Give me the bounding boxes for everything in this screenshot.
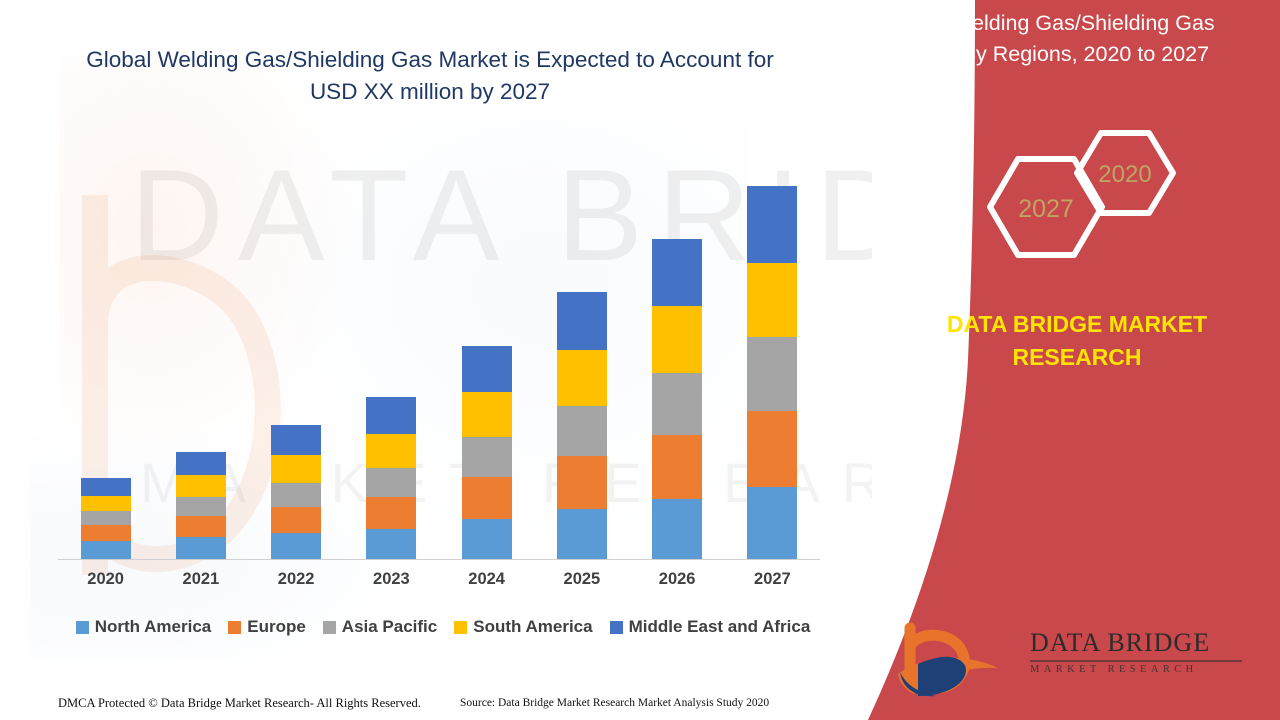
bar-segment [366,434,416,468]
stacked-bar [366,397,416,559]
bar-column [725,160,820,559]
bar-segment [81,511,131,525]
bar-segment [81,496,131,511]
bar-column [58,160,153,559]
dmca-notice: DMCA Protected © Data Bridge Market Rese… [58,696,421,711]
bar-segment [747,337,797,412]
bar-column [630,160,725,559]
bar-segment [652,499,702,559]
bar-segment [652,435,702,499]
stacked-bar [462,346,512,559]
stacked-bar [747,186,797,559]
bar-segment [176,452,226,475]
x-axis-labels: 20202021202220232024202520262027 [58,570,820,589]
bar-segment [366,497,416,529]
bar-segment [176,537,226,559]
bar-segment [271,425,321,455]
bar-segment [557,509,607,559]
bar-segment [176,475,226,497]
logo-text-block: DATA BRIDGE MARKET RESEARCH [1030,630,1242,675]
x-axis-label: 2022 [249,570,344,589]
bar-segment [462,346,512,393]
legend-label: South America [473,617,592,637]
bar-segment [176,516,226,537]
bar-segment [747,186,797,263]
stacked-bar [176,452,226,559]
legend-item[interactable]: Middle East and Africa [610,617,811,637]
bar-segment [81,478,131,496]
bar-segment [462,392,512,437]
legend-label: North America [95,617,212,637]
legend-label: Asia Pacific [342,617,437,637]
stacked-bar-chart [58,160,820,559]
legend-swatch-icon [610,621,623,634]
bar-column [249,160,344,559]
x-axis-label: 2024 [439,570,534,589]
x-axis-label: 2025 [534,570,629,589]
bar-segment [271,455,321,483]
stacked-bar [557,292,607,559]
data-bridge-logo: DATA BRIDGE MARKET RESEARCH [892,622,1262,702]
panel-content: Global Welding Gas/Shielding Gas Market,… [872,0,1280,720]
logo-divider [1030,660,1242,662]
legend-item[interactable]: Europe [228,617,306,637]
legend-swatch-icon [454,621,467,634]
bar-column [344,160,439,559]
bar-segment [652,373,702,435]
bar-segment [81,541,131,559]
bar-segment [747,411,797,487]
x-axis-label: 2027 [725,570,820,589]
stacked-bar [81,478,131,559]
bar-segment [176,497,226,516]
legend-item[interactable]: North America [76,617,212,637]
x-axis-line [58,559,820,560]
bar-column [153,160,248,559]
x-axis-label: 2021 [153,570,248,589]
hexagon-2027-label: 2027 [1018,195,1074,223]
bar-segment [652,306,702,374]
bar-segment [462,477,512,519]
bar-segment [747,487,797,559]
infographic-canvas: DATA BRIDGE MARKET RESEARCH Global Weldi… [0,0,1280,720]
x-axis-label: 2026 [630,570,725,589]
bar-column [534,160,629,559]
legend-swatch-icon [323,621,336,634]
bar-segment [557,406,607,456]
bar-segment [366,468,416,497]
legend-label: Middle East and Africa [629,617,811,637]
bar-segment [462,519,512,559]
stacked-bar [652,239,702,559]
bar-segment [557,350,607,407]
logo-sub-text: MARKET RESEARCH [1030,665,1242,676]
bar-segment [366,529,416,559]
hexagon-2020-label: 2020 [1098,161,1151,188]
bar-segment [557,292,607,350]
bar-segment [652,239,702,306]
bar-segment [271,507,321,533]
bar-segment [271,533,321,559]
bar-segment [557,456,607,509]
legend-swatch-icon [76,621,89,634]
bar-segment [747,263,797,337]
source-note: Source: Data Bridge Market Research Mark… [460,697,769,709]
hexagon-badges: 2027 2020 [982,125,1192,290]
legend-item[interactable]: South America [454,617,592,637]
legend-swatch-icon [228,621,241,634]
logo-main-text: DATA BRIDGE [1030,630,1242,656]
bar-segment [366,397,416,434]
chart-title: Global Welding Gas/Shielding Gas Market … [60,44,800,108]
bar-segment [271,483,321,507]
legend-item[interactable]: Asia Pacific [323,617,437,637]
x-axis-label: 2023 [344,570,439,589]
bar-column [439,160,534,559]
legend-label: Europe [247,617,306,637]
stacked-bar [271,425,321,559]
bar-segment [462,437,512,477]
logo-mark-icon [892,622,1022,700]
chart-legend: North AmericaEuropeAsia PacificSouth Ame… [58,617,828,637]
brand-name: DATA BRIDGE MARKET RESEARCH [892,308,1262,373]
panel-title: Global Welding Gas/Shielding Gas Market,… [884,8,1274,69]
x-axis-label: 2020 [58,570,153,589]
bar-segment [81,525,131,541]
